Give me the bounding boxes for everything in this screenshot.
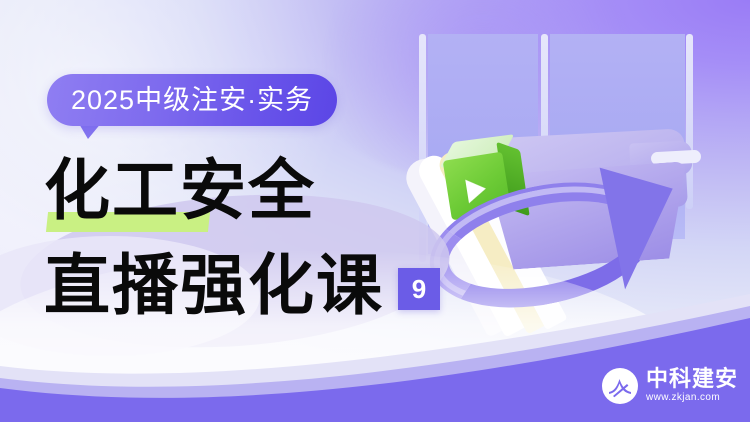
panel-divider-3 bbox=[686, 34, 693, 209]
course-category-label: 2025中级注安·实务 bbox=[71, 87, 313, 114]
brand-logo-text: 中科建安 www.zkjan.com bbox=[646, 369, 738, 403]
title-text-line2: 直播强化课 bbox=[44, 253, 384, 319]
page-title-line1: 化工安全 bbox=[44, 158, 316, 224]
course-category-badge: 2025中级注安·实务 bbox=[47, 74, 337, 126]
play-triangle-icon bbox=[465, 177, 488, 204]
brand-name: 中科建安 bbox=[646, 369, 738, 391]
brand-logo: 中科建安 www.zkjan.com bbox=[602, 368, 738, 404]
page-title-line2: 直播强化课 9 bbox=[44, 253, 440, 319]
zkjan-circle-logo-icon bbox=[602, 368, 638, 404]
brand-url: www.zkjan.com bbox=[646, 393, 738, 403]
title-text-line1: 化工安全 bbox=[44, 158, 316, 224]
course-poster: 2025中级注安·实务 化工安全 直播强化课 9 中科建安 www.zkjan.… bbox=[0, 0, 750, 422]
episode-number-badge: 9 bbox=[398, 268, 440, 310]
